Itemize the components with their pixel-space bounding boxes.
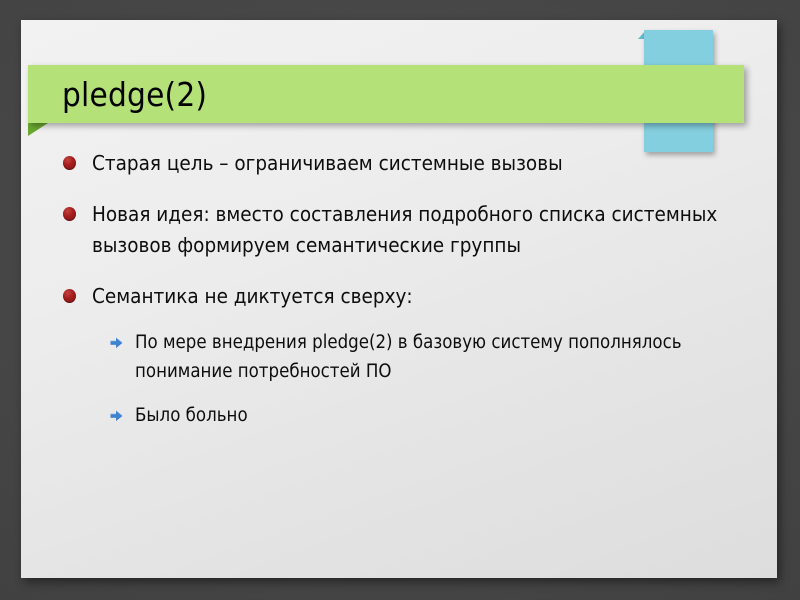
red-dot-bullet-icon [63, 156, 76, 170]
bullet-text: Новая идея: вместо составления подробног… [92, 199, 768, 261]
slide-body: Старая цель – ограничиваем системные выз… [42, 148, 768, 430]
sub-list-item: По мере внедрения pledge(2) в базовую си… [92, 328, 768, 386]
title-band: pledge(2) [28, 65, 744, 123]
red-dot-bullet-icon [63, 289, 76, 303]
blue-arrow-bullet-icon [110, 337, 123, 349]
sub-bullet-list: По мере внедрения pledge(2) в базовую си… [92, 328, 768, 430]
blue-arrow-bullet-icon [110, 410, 123, 422]
list-item: Новая идея: вместо составления подробног… [42, 199, 768, 261]
sub-list-item: Было больно [92, 401, 768, 430]
bullet-list: Старая цель – ограничиваем системные выз… [42, 148, 768, 430]
list-item: Семантика не диктуется сверху: По мере в… [42, 281, 768, 430]
sub-bullet-text: Было больно [135, 401, 768, 430]
presentation-backdrop: pledge(2) Старая цель – ограничиваем сис… [0, 0, 800, 600]
list-item: Старая цель – ограничиваем системные выз… [42, 148, 768, 179]
slide-canvas: pledge(2) Старая цель – ограничиваем сис… [21, 20, 777, 578]
title-band-fold-corner [28, 123, 48, 136]
red-dot-bullet-icon [63, 207, 76, 221]
bullet-text: Семантика не диктуется сверху: [92, 281, 768, 312]
bullet-text: Старая цель – ограничиваем системные выз… [92, 148, 768, 179]
sub-bullet-text: По мере внедрения pledge(2) в базовую си… [135, 328, 768, 386]
page-title: pledge(2) [28, 78, 207, 111]
